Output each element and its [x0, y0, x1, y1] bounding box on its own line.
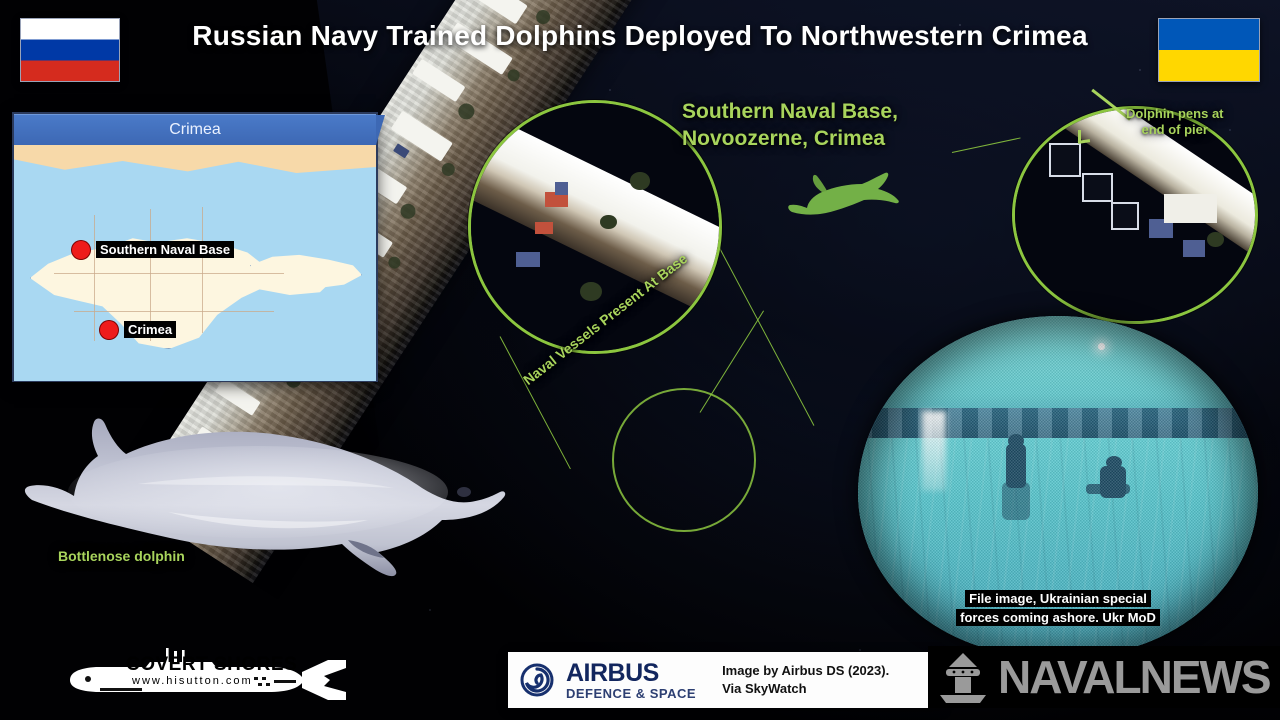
base-label-line2: Novoozerne, Crimea [682, 125, 898, 152]
base-label-line1: Southern Naval Base, [682, 98, 898, 125]
special-forces-photo: File image, Ukrainian special forces com… [858, 316, 1258, 656]
page-title: Russian Navy Trained Dolphins Deployed T… [0, 20, 1280, 52]
covert-shores-logo[interactable]: COVERT SHORES www.hisutton.com [62, 642, 362, 702]
russia-flag-icon [20, 18, 120, 82]
airbus-logo-icon [520, 663, 554, 697]
map-pin-label-southern-naval-base: Southern Naval Base [96, 241, 234, 258]
sf-caption: File image, Ukrainian special forces com… [880, 590, 1236, 628]
map-pin-southern-naval-base[interactable] [72, 241, 90, 259]
zoom-source-ring [612, 388, 756, 532]
infographic-canvas: Russian Navy Trained Dolphins Deployed T… [0, 0, 1280, 720]
covert-shores-name: COVERT SHORES [126, 654, 297, 676]
crimea-map-inset[interactable]: Crimea Southern Naval Base Crimea [14, 114, 376, 380]
map-pin-crimea[interactable] [100, 321, 118, 339]
bottlenose-dolphin-illustration [18, 392, 518, 592]
airbus-name: AIRBUS [566, 661, 696, 686]
airbus-wordmark: AIRBUS DEFENCE & SPACE [566, 661, 696, 700]
covert-shores-url: www.hisutton.com [132, 675, 253, 687]
image-credit: Image by Airbus DS (2023). Via SkyWatch [722, 662, 889, 697]
image-credit-line1: Image by Airbus DS (2023). [722, 662, 889, 680]
map-inset-body: Southern Naval Base Crimea [14, 145, 376, 381]
ship-icon [936, 651, 990, 703]
dolphin-silhouette-icon [786, 168, 906, 230]
naval-news-logo[interactable]: NAVALNEWS [928, 646, 1280, 708]
base-location-label: Southern Naval Base, Novoozerne, Crimea [682, 98, 898, 153]
callout-dolphin-pens [1012, 106, 1258, 324]
dolphin-pens-label: Dolphin pens at end of pier [1126, 106, 1224, 139]
airbus-credit-bar: AIRBUS DEFENCE & SPACE Image by Airbus D… [508, 652, 942, 708]
map-pin-label-crimea: Crimea [124, 321, 176, 338]
pens-arrow-head-b [1078, 130, 1081, 143]
pens-label-line2: end of pier [1126, 122, 1224, 138]
airbus-subtitle: DEFENCE & SPACE [566, 687, 696, 700]
ukraine-flag-icon [1158, 18, 1260, 82]
map-inset-header: Crimea [14, 114, 376, 145]
sf-caption-line2: forces coming ashore. Ukr MoD [956, 609, 1160, 626]
naval-news-name: NAVALNEWS [998, 654, 1270, 700]
sf-caption-line1: File image, Ukrainian special [965, 590, 1151, 607]
pens-label-line1: Dolphin pens at [1126, 106, 1224, 122]
image-credit-line2: Via SkyWatch [722, 680, 889, 698]
